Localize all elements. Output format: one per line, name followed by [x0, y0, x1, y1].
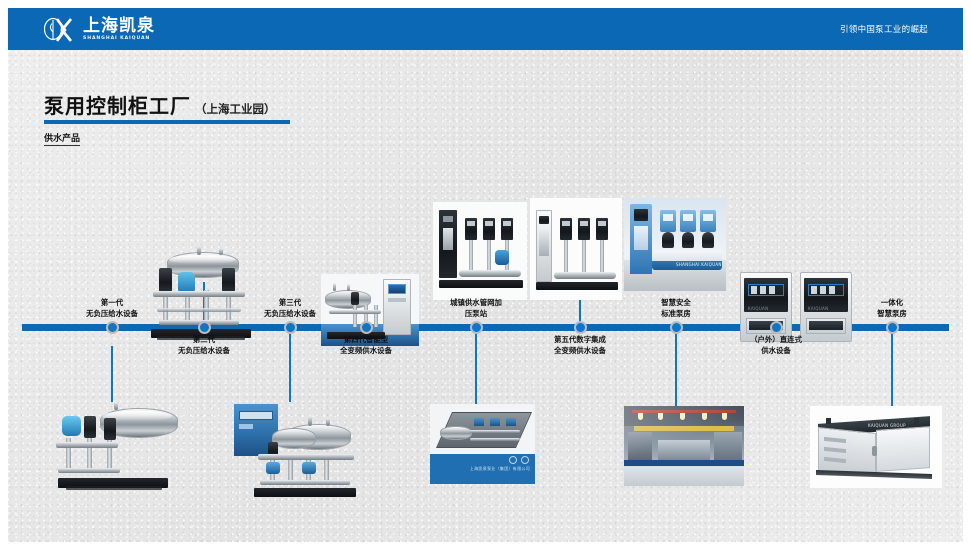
timeline-node-gen3[interactable]: [284, 321, 297, 334]
timeline-node-outdoor[interactable]: [770, 321, 783, 334]
timeline-node-gen4[interactable]: [360, 321, 373, 334]
timeline-label-outdoor: （户外）直连式 供水设备: [721, 335, 831, 356]
timeline-stem-integrated: [891, 328, 893, 406]
timeline-label-gen3: 第三代 无负压给水设备: [235, 298, 345, 319]
photo-gen5-c: SHANGHAI KAIQUAN: [624, 198, 726, 291]
timeline-label-gen1: 第一代 无负压给水设备: [57, 298, 167, 319]
timeline-node-booster[interactable]: [470, 321, 483, 334]
page-title-main: 泵用控制柜工厂: [44, 90, 191, 119]
slide-canvas: 泵用控制柜工厂 （上海工业园） 供水产品: [8, 50, 963, 542]
kaiquan-logo-icon: [42, 17, 76, 43]
photo-gen2: [54, 402, 184, 498]
timeline-label-gen4: 第四代智能型 全变频供水设备: [311, 335, 421, 356]
timeline-label-smartroom: 智慧安全 标准泵房: [621, 298, 731, 319]
timeline-label-booster: 城镇供水管网加 压泵站: [421, 298, 531, 319]
timeline-stem-gen3: [289, 328, 291, 402]
photo-gen5-b: [530, 198, 622, 300]
timeline-node-smartroom[interactable]: [670, 321, 683, 334]
timeline-node-gen1[interactable]: [106, 321, 119, 334]
frame-right: [963, 0, 971, 552]
timeline-label-gen5: 第五代数字集成 全变频供水设备: [525, 335, 635, 356]
timeline-node-gen5[interactable]: [574, 321, 587, 334]
page-title-sub: （上海工业园）: [195, 101, 276, 117]
timeline-label-gen2: 第二代 无负压给水设备: [149, 335, 259, 356]
photo-integrated: KAIQUAN GROUP: [810, 406, 942, 488]
brand-logo[interactable]: 上海凯泉 SHANGHAI KAIQUAN: [42, 16, 155, 44]
timeline-node-gen2[interactable]: [198, 321, 211, 334]
title-underline: [44, 120, 290, 124]
brand-name-cn: 上海凯泉: [83, 18, 155, 35]
timeline-stem-booster: [475, 328, 477, 404]
photo-booster: 上海凯泉泵业（集团）有限公司: [430, 404, 535, 484]
header-slogan: 引领中国泵工业的崛起: [840, 8, 928, 50]
page-title: 泵用控制柜工厂 （上海工业园）: [44, 90, 276, 119]
photo-gen3: [230, 402, 358, 504]
header-bar: 上海凯泉 SHANGHAI KAIQUAN 引领中国泵工业的崛起: [8, 8, 963, 50]
timeline-stem-smartroom: [675, 328, 677, 406]
photo-smart-room: [624, 406, 744, 486]
frame-left: [0, 0, 8, 552]
brand-name-en: SHANGHAI KAIQUAN: [83, 37, 155, 42]
frame-top: [0, 0, 971, 8]
photo-gen5-a: [433, 202, 527, 300]
timeline-node-integrated[interactable]: [886, 321, 899, 334]
timeline-label-integrated: 一体化 智慧泵房: [837, 298, 947, 319]
frame-bottom: [0, 542, 971, 552]
timeline-stem-gen1: [111, 346, 113, 402]
section-label: 供水产品: [44, 131, 80, 146]
slide-root: 上海凯泉 SHANGHAI KAIQUAN 引领中国泵工业的崛起 泵用控制柜工厂…: [0, 0, 971, 552]
